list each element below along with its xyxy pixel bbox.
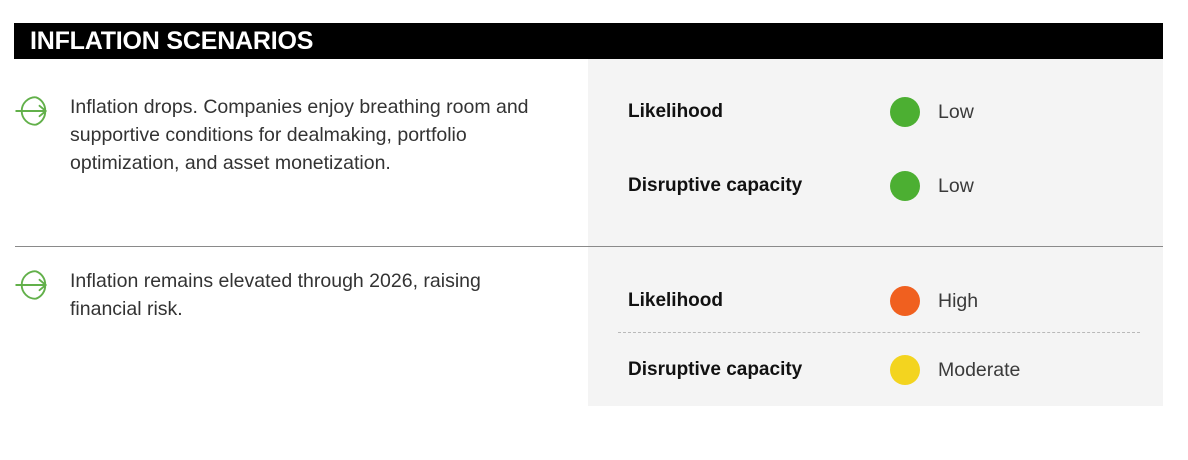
scenario-description-block-1: Inflation drops. Companies enjoy breathi… <box>14 93 542 177</box>
metric-row-likelihood-1: Likelihood Low <box>628 97 1128 127</box>
metric-row-disruptive-capacity-2: Disruptive capacity Moderate <box>628 355 1128 385</box>
scenario-row-1: Inflation drops. Companies enjoy breathi… <box>0 59 1188 246</box>
inflation-scenarios-infographic: INFLATION SCENARIOS Inflation drops. Com… <box>0 0 1188 460</box>
status-dot-likelihood-1 <box>890 97 920 127</box>
metric-dashed-divider <box>618 332 1140 333</box>
metric-value-likelihood-2: High <box>938 290 978 313</box>
header-bar: INFLATION SCENARIOS <box>14 23 1163 59</box>
metric-label-likelihood-2: Likelihood <box>628 290 890 312</box>
status-dot-disruptive-capacity-2 <box>890 355 920 385</box>
status-dot-likelihood-2 <box>890 286 920 316</box>
metric-label-disruptive-capacity-2: Disruptive capacity <box>628 359 890 381</box>
arrow-circle-right-icon <box>14 268 54 302</box>
scenario-description-2: Inflation remains elevated through 2026,… <box>70 267 542 323</box>
metric-label-disruptive-capacity-1: Disruptive capacity <box>628 175 890 197</box>
metric-row-disruptive-capacity-1: Disruptive capacity Low <box>628 171 1128 201</box>
scenario-description-block-2: Inflation remains elevated through 2026,… <box>14 267 542 323</box>
arrow-circle-right-icon <box>14 94 54 128</box>
scenario-description-1: Inflation drops. Companies enjoy breathi… <box>70 93 542 177</box>
metric-label-likelihood-1: Likelihood <box>628 101 890 123</box>
metric-row-likelihood-2: Likelihood High <box>628 286 1128 316</box>
metric-value-disruptive-capacity-1: Low <box>938 175 974 198</box>
metric-value-likelihood-1: Low <box>938 101 974 124</box>
page-title: INFLATION SCENARIOS <box>14 27 313 56</box>
metric-value-disruptive-capacity-2: Moderate <box>938 359 1020 382</box>
status-dot-disruptive-capacity-1 <box>890 171 920 201</box>
